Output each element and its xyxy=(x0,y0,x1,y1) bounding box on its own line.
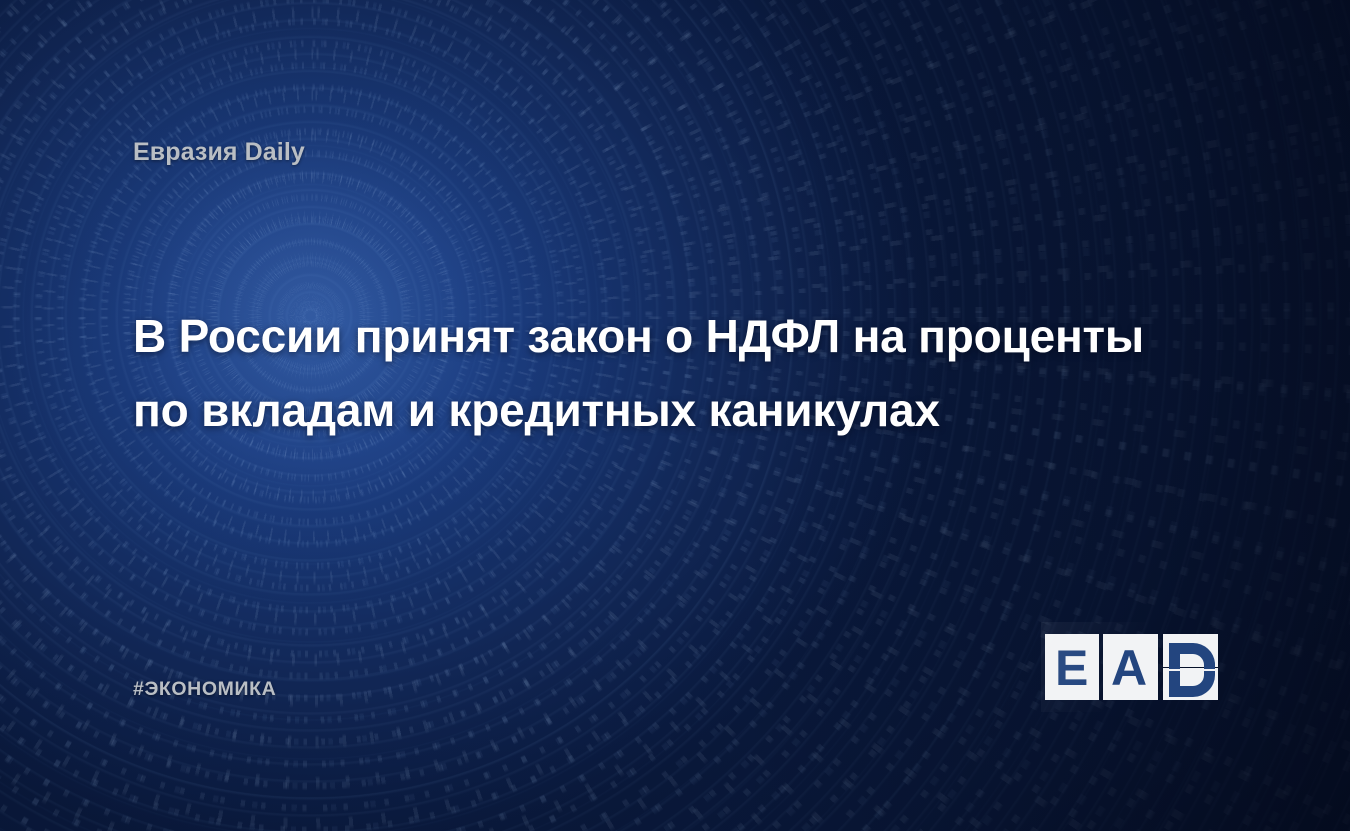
brand-wordmark: Евразия Daily xyxy=(133,138,305,167)
logo-letter-e: E xyxy=(1055,643,1088,693)
ead-logo: E A xyxy=(1045,626,1240,708)
headline-title: В России принят закон о НДФЛ на проценты… xyxy=(133,299,1193,447)
card-content: Евразия Daily В России принят закон о НД… xyxy=(0,0,1350,831)
logo-letter-a: A xyxy=(1111,643,1147,693)
category-hashtag: #ЭКОНОМИКА xyxy=(133,678,276,701)
news-cover-card: Евразия Daily В России принят закон о НД… xyxy=(0,0,1350,831)
logo-letter-d xyxy=(1163,630,1241,704)
